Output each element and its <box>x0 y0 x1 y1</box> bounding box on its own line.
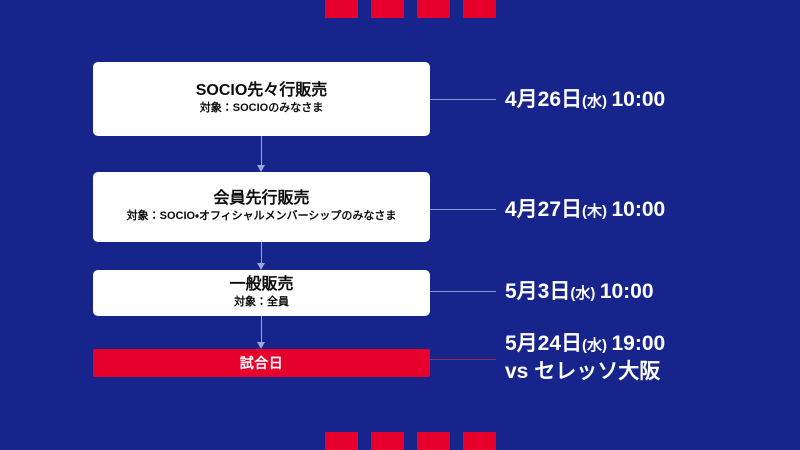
date-time: 10:00 <box>612 198 666 221</box>
leader-line-general-sale <box>430 291 496 292</box>
date-day-of-week: (水) <box>582 93 607 110</box>
date-socio-advance: 4月26日(水) 10:00 <box>505 86 665 113</box>
flow-step-socio-advance: SOCIO先々行販売 対象：SOCIOのみなさま <box>93 62 430 136</box>
flow-step-subtitle: 対象：SOCIOのみなさま <box>200 102 323 116</box>
date-value: 4月26日 <box>505 88 582 111</box>
decoration-dash <box>417 432 450 450</box>
flow-step-title: SOCIO先々行販売 <box>196 82 328 100</box>
arrow-down-icon <box>257 342 265 349</box>
flow-step-title: 試合日 <box>240 353 284 373</box>
date-match-day: 5月24日(水) 19:00 vs セレッソ大阪 <box>505 330 665 386</box>
flow-step-subtitle: 対象：SOCIO・オフィシャルメンバーシップのみなさま <box>127 210 397 224</box>
flow-step-member-advance: 会員先行販売 対象：SOCIO・オフィシャルメンバーシップのみなさま <box>93 172 430 242</box>
decoration-dash <box>463 0 496 18</box>
date-value: 5月24日 <box>505 332 582 355</box>
flow-arrow-3 <box>93 316 430 349</box>
leader-line-member-advance <box>430 209 496 210</box>
arrow-line <box>261 136 262 166</box>
date-day-of-week: (水) <box>582 337 607 354</box>
decoration-dash <box>417 0 450 18</box>
date-value: 4月27日 <box>505 198 582 221</box>
decoration-dash <box>371 432 404 450</box>
decoration-dash <box>325 0 358 18</box>
decoration-dash <box>371 0 404 18</box>
flow-step-match-day: 試合日 <box>93 349 430 377</box>
decoration-dash <box>325 432 358 450</box>
date-member-advance: 4月27日(木) 10:00 <box>505 196 665 223</box>
date-time: 10:00 <box>600 280 654 303</box>
match-opponent: vs セレッソ大阪 <box>505 358 665 385</box>
top-decoration-dashes <box>325 0 496 18</box>
date-general-sale: 5月3日(水) 10:00 <box>505 278 654 305</box>
flow-step-title: 一般販売 <box>229 276 293 294</box>
flow-step-title: 会員先行販売 <box>213 190 309 208</box>
arrow-down-icon <box>257 165 265 172</box>
date-time: 10:00 <box>612 88 666 111</box>
arrow-down-icon <box>257 263 265 270</box>
arrow-line <box>261 242 262 264</box>
decoration-dash <box>463 432 496 450</box>
date-day-of-week: (水) <box>570 285 595 302</box>
flow-arrow-1 <box>93 136 430 172</box>
arrow-line <box>261 316 262 343</box>
sales-flow-column: SOCIO先々行販売 対象：SOCIOのみなさま 会員先行販売 対象：SOCIO… <box>93 62 430 377</box>
leader-line-match-day <box>430 359 496 360</box>
flow-arrow-2 <box>93 242 430 270</box>
leader-line-socio-advance <box>430 99 496 100</box>
bottom-decoration-dashes <box>325 432 496 450</box>
ticket-sales-schedule-poster: SOCIO先々行販売 対象：SOCIOのみなさま 会員先行販売 対象：SOCIO… <box>0 0 800 450</box>
date-day-of-week: (木) <box>582 203 607 220</box>
flow-step-subtitle: 対象：全員 <box>234 296 289 310</box>
flow-step-general-sale: 一般販売 対象：全員 <box>93 270 430 316</box>
date-time: 19:00 <box>612 332 666 355</box>
date-value: 5月3日 <box>505 280 570 303</box>
